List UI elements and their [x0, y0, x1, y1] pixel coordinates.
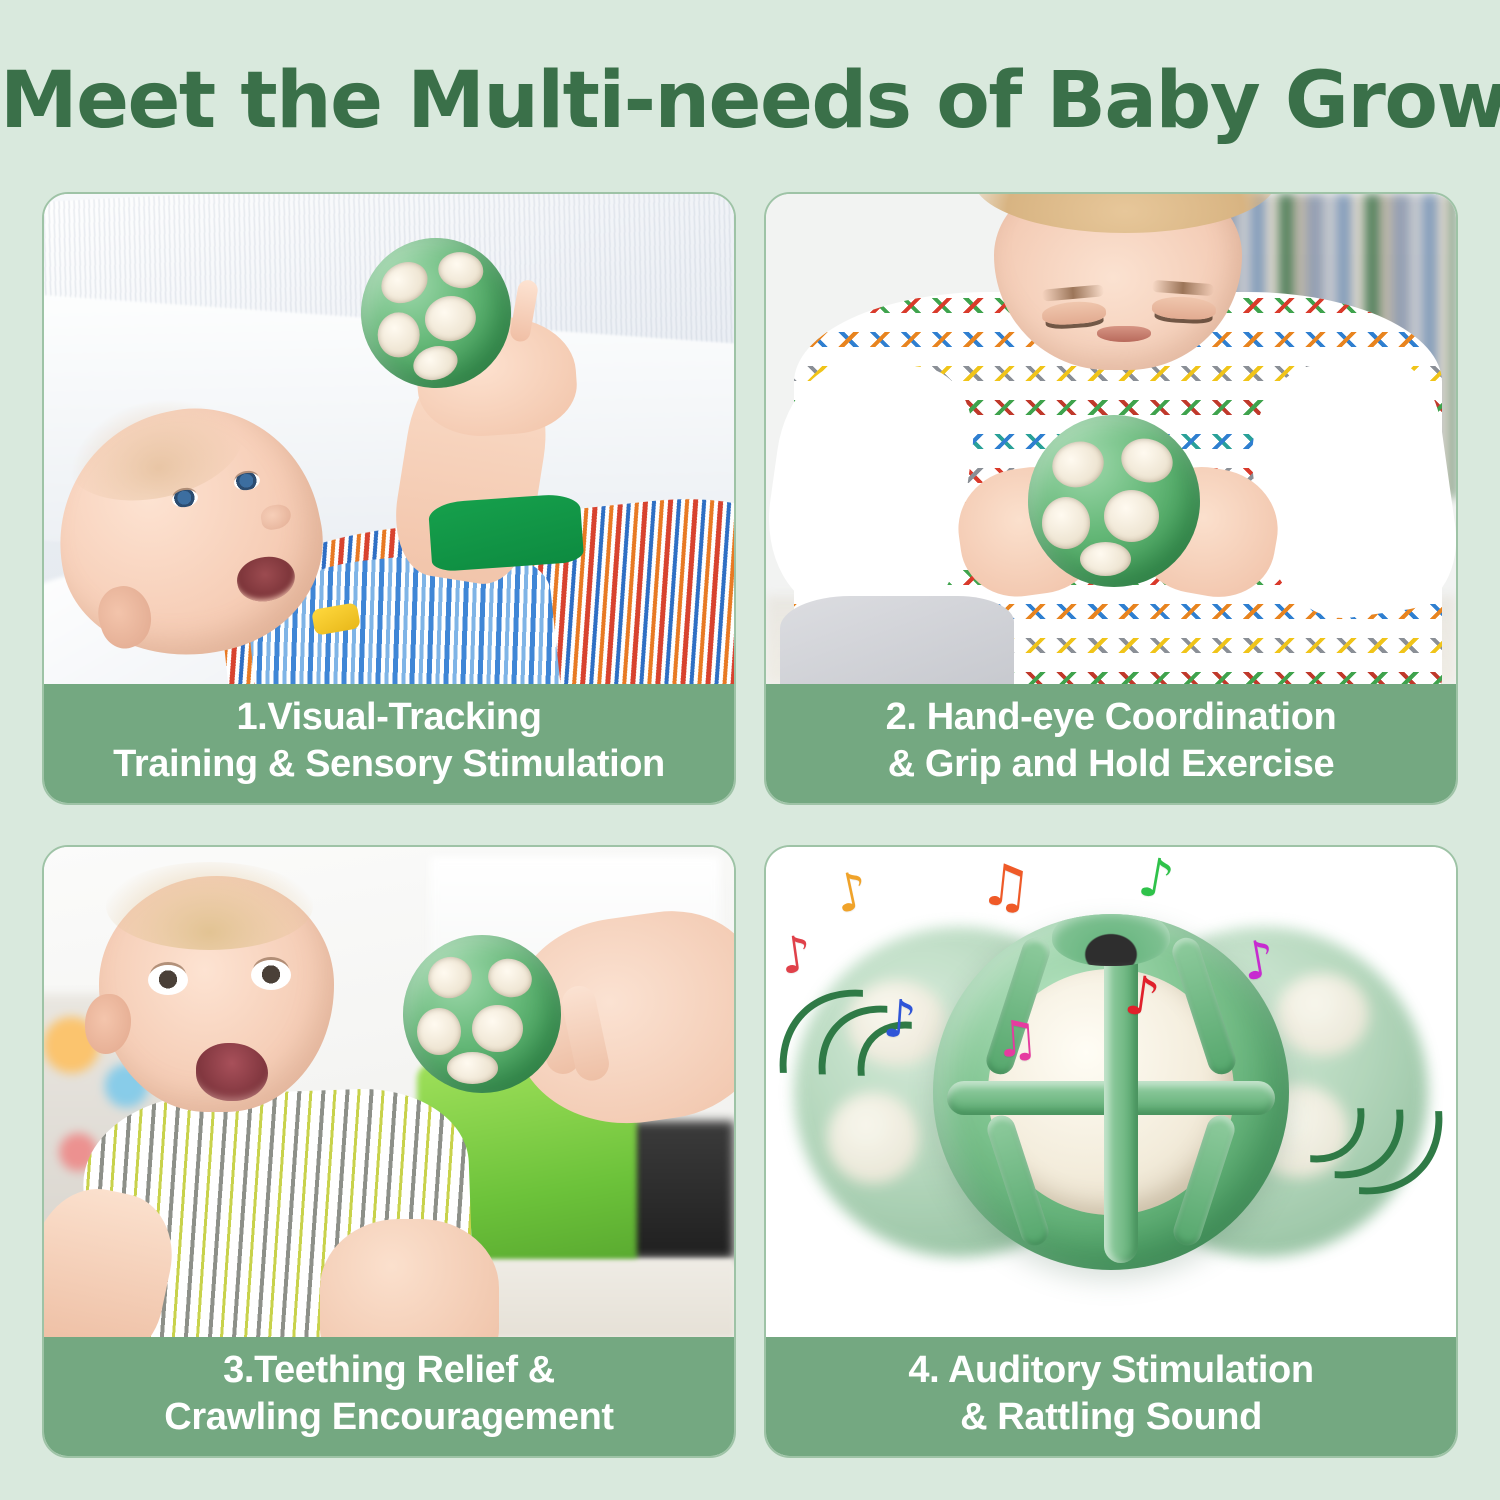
green-sleeve-cuff — [428, 493, 584, 572]
music-note-icon: ♪ — [776, 928, 815, 982]
ball-hole — [417, 1008, 461, 1055]
caption-line: & Grip and Hold Exercise — [888, 741, 1335, 788]
ball-hole — [472, 1005, 523, 1052]
benefits-grid: 1.Visual-Tracking Training & Sensory Sti… — [42, 192, 1458, 1458]
benefit-card-1[interactable]: 1.Visual-Tracking Training & Sensory Sti… — [42, 192, 736, 805]
baby-in-crib-watching-ball-photo — [44, 194, 734, 684]
green-rattle-ball — [1028, 415, 1200, 587]
benefit-caption-3: 3.Teething Relief & Crawling Encourageme… — [44, 1337, 734, 1456]
caption-line: 1.Visual-Tracking — [236, 694, 541, 741]
music-note-icon: ♪ — [1121, 967, 1163, 1025]
benefit-card-2[interactable]: 2. Hand-eye Coordination & Grip and Hold… — [764, 192, 1458, 805]
toddler-gripping-ball-photo — [766, 194, 1456, 684]
ball-hole — [1116, 432, 1177, 488]
benefit-card-3[interactable]: 3.Teething Relief & Crawling Encourageme… — [42, 845, 736, 1458]
caption-line: 4. Auditory Stimulation — [908, 1347, 1313, 1394]
ball-hole — [484, 954, 537, 1003]
rattling-ball-with-music-notes-illustration: ♪♫♪♪♪♫♪♪ — [766, 847, 1456, 1337]
music-note-icon: ♫ — [992, 1012, 1040, 1065]
caption-line: 2. Hand-eye Coordination — [886, 694, 1337, 741]
ball-hole — [1042, 497, 1090, 549]
ball-hole — [1080, 542, 1132, 576]
music-note-icon: ♫ — [977, 854, 1035, 917]
benefit-caption-2: 2. Hand-eye Coordination & Grip and Hold… — [766, 684, 1456, 803]
baby-leg — [320, 1219, 499, 1337]
baby-hair — [106, 862, 313, 950]
caption-line: & Rattling Sound — [960, 1394, 1262, 1441]
baby-eye-left — [148, 965, 188, 995]
music-note-icon: ♪ — [882, 993, 919, 1047]
baby-eye-right — [251, 960, 291, 990]
ball-hole — [1047, 435, 1110, 493]
benefit-caption-4: 4. Auditory Stimulation & Rattling Sound — [766, 1337, 1456, 1456]
caption-line: Crawling Encouragement — [164, 1394, 613, 1441]
ball-hole — [1104, 490, 1159, 542]
caption-line: Training & Sensory Stimulation — [113, 741, 665, 788]
green-rattle-ball — [403, 935, 561, 1093]
ball-top-opening — [1052, 914, 1170, 966]
crawling-baby-reaching-ball-photo — [44, 847, 734, 1337]
ball-hole — [447, 1052, 498, 1084]
caption-line: 3.Teething Relief & — [223, 1347, 555, 1394]
baby-open-mouth — [196, 1043, 268, 1101]
benefit-card-4[interactable]: ♪♫♪♪♪♫♪♪ 4. Auditory Stimulation & Rattl… — [764, 845, 1458, 1458]
page-title: Meet the Multi-needs of Baby Growth — [0, 56, 1500, 146]
ball-hole — [423, 952, 477, 1004]
green-rattle-ball-main — [933, 914, 1289, 1270]
benefit-caption-1: 1.Visual-Tracking Training & Sensory Sti… — [44, 684, 734, 803]
toddler-pants — [780, 596, 1015, 684]
